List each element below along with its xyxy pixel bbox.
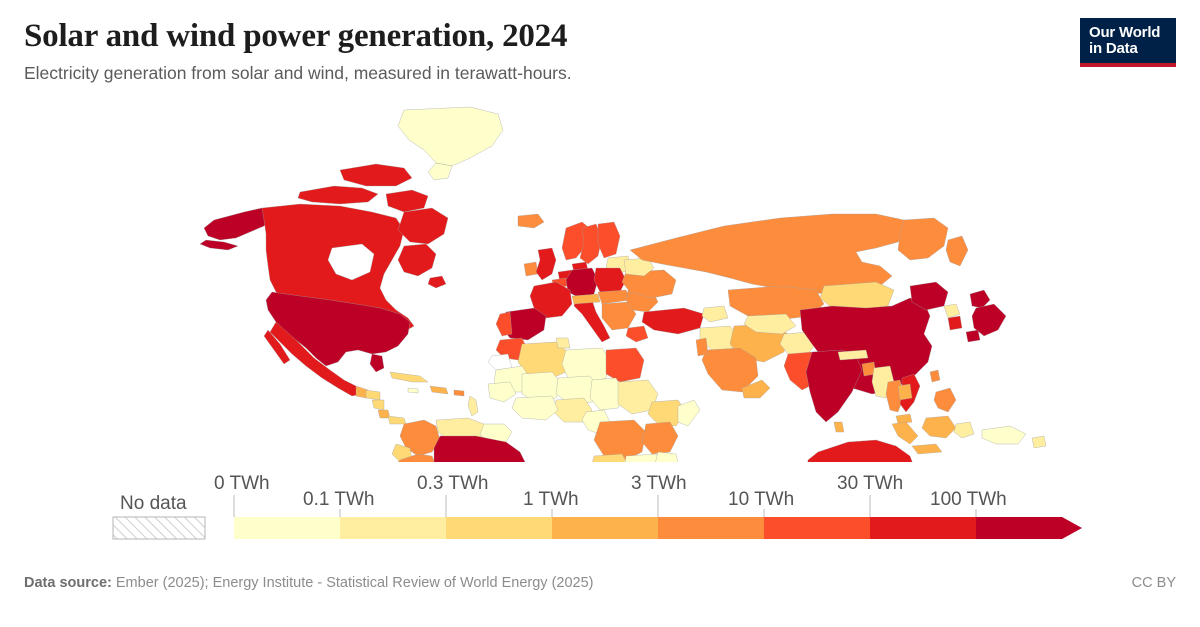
country-kamchatka[interactable] [946,236,968,266]
country-russia-east[interactable] [898,218,948,260]
country-germany[interactable] [566,268,598,298]
country-portugal[interactable] [496,312,512,336]
chart-subtitle: Electricity generation from solar and wi… [24,63,1176,84]
country-greenland-south[interactable] [428,163,452,180]
country-hispaniola[interactable] [430,386,448,394]
country-canada-arctic-2[interactable] [340,164,412,186]
country-borneo[interactable] [922,416,956,438]
country-south-korea[interactable] [948,316,962,330]
country-aleutians[interactable] [200,240,238,250]
owid-logo[interactable]: Our World in Data [1080,18,1176,67]
country-tunisia[interactable] [556,338,570,348]
logo-line-2: in Data [1089,41,1167,57]
country-cambodia-laos[interactable] [898,384,912,400]
country-canada-baffin[interactable] [398,208,448,244]
country-canada-arctic-1[interactable] [298,186,378,204]
country-mozambique[interactable] [654,452,680,462]
legend-bin-0[interactable] [234,517,340,539]
country-north-korea[interactable] [944,304,960,318]
country-poland[interactable] [594,268,626,292]
legend-label-3: 1 TWh [523,489,579,510]
legend-label-1: 0.1 TWh [303,489,374,510]
map-legend[interactable]: No data [0,462,1200,552]
legend-label-2: 0.3 TWh [417,473,488,494]
country-japan[interactable] [970,290,990,308]
country-puerto-rico[interactable] [454,390,464,396]
country-turkey[interactable] [642,308,704,334]
page-title: Solar and wind power generation, 2024 [24,18,1176,56]
legend-bin-7[interactable] [976,517,1082,539]
country-greenland[interactable] [398,107,503,166]
country-czech-hungary[interactable] [598,290,630,304]
country-java[interactable] [912,444,942,454]
country-shapes [200,107,1046,462]
chart-footer: Data source: Ember (2025); Energy Instit… [24,575,1176,605]
legend-bin-6[interactable] [870,517,976,539]
country-taiwan[interactable] [930,370,940,382]
country-iceland[interactable] [518,214,544,228]
chart-header: Solar and wind power generation, 2024 El… [24,18,1176,84]
country-honduras[interactable] [366,390,380,400]
legend-bin-5[interactable] [764,517,870,539]
legend-label-6: 30 TWh [837,473,903,494]
country-greece[interactable] [626,326,648,342]
data-source-text: Ember (2025); Energy Institute - Statist… [116,575,594,591]
legend-label-4: 3 TWh [631,473,687,494]
country-kenya-tanzania[interactable] [642,422,678,454]
country-egypt[interactable] [606,348,644,382]
country-canada-arctic-3[interactable] [386,190,428,212]
country-ghana-ivory[interactable] [512,396,558,420]
world-map-svg[interactable] [0,100,1200,462]
country-finland[interactable] [598,222,620,258]
country-jamaica[interactable] [408,388,418,393]
country-somalia[interactable] [678,400,700,426]
world-map[interactable] [0,100,1200,462]
country-cuba[interactable] [390,372,428,382]
country-brazil[interactable] [434,436,530,462]
logo-line-1: Our World [1089,25,1167,41]
legend-label-7: 100 TWh [930,489,1007,510]
country-us-florida[interactable] [370,354,384,372]
country-sulawesi[interactable] [954,422,974,438]
legend-bin-3[interactable] [552,517,658,539]
legend-bin-1[interactable] [340,517,446,539]
legend-svg[interactable]: No data [0,462,1200,552]
country-israel-jordan[interactable] [696,338,708,356]
country-canada-newfoundland[interactable] [428,276,446,288]
country-alaska[interactable] [204,208,270,240]
country-australia[interactable] [806,440,916,462]
license-label[interactable]: CC BY [1132,575,1176,591]
country-caucasus[interactable] [702,306,728,322]
country-western-sahara[interactable] [488,354,512,370]
country-united-kingdom[interactable] [536,248,556,280]
country-sumatra[interactable] [892,422,918,444]
legend-no-data-swatch[interactable] [113,517,205,539]
owid-map-chart: Solar and wind power generation, 2024 El… [0,0,1200,627]
country-new-guinea[interactable] [982,426,1026,444]
data-source-prefix: Data source: [24,575,112,591]
legend-bin-4[interactable] [658,517,764,539]
legend-label-5: 10 TWh [728,489,794,510]
data-source: Data source: Ember (2025); Energy Instit… [24,575,1176,591]
country-lesser-antilles[interactable] [468,396,478,416]
country-nicaragua[interactable] [372,400,384,410]
country-sri-lanka[interactable] [834,422,844,432]
country-papua-small[interactable] [1032,436,1046,448]
country-ireland[interactable] [524,262,538,276]
legend-label-0: 0 TWh [214,473,270,494]
legend-no-data-label: No data [120,493,187,514]
country-canada-labrador[interactable] [398,244,436,276]
country-philippines[interactable] [934,388,956,412]
country-india[interactable] [806,350,862,422]
legend-bins [234,517,1082,539]
legend-bin-2[interactable] [446,517,552,539]
country-japan-south[interactable] [966,330,980,342]
country-panama[interactable] [388,416,406,424]
